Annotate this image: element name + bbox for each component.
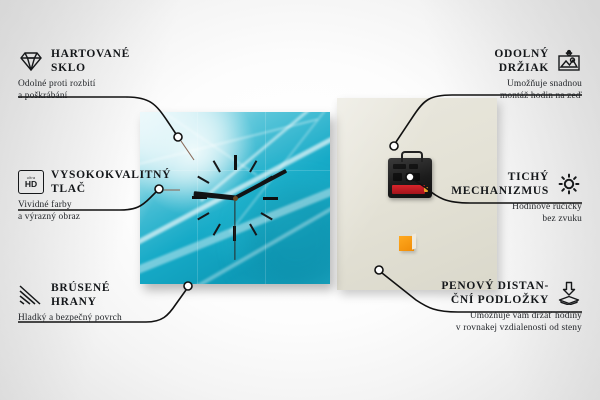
feature-description: Hodinové ručičky bez zvuku xyxy=(392,198,582,225)
feature-description: Umožňuje vám držať hodiny v rovnakej vzd… xyxy=(352,307,582,334)
feature-brusene-hrany: BRÚSENÉ HRANY Hladký a bezpečný povrch xyxy=(18,281,203,324)
ultra-hd-icon: ultra HD xyxy=(18,170,44,194)
connector-left-1 xyxy=(18,97,176,134)
gear-icon xyxy=(556,172,582,196)
feature-title: TICHÝ MECHANIZMUS xyxy=(451,170,549,198)
feature-hartovane-sklo: HARTOVANÉ SKLO Odolné proti rozbití a po… xyxy=(18,47,198,102)
pointer-left-1 xyxy=(181,141,194,160)
connector-dot-right-3 xyxy=(375,266,383,274)
feature-title: PENOVÝ DISTAN- ČNÍ PODLOŽKY xyxy=(441,279,549,307)
feature-description: Vividné farby a výrazný obraz xyxy=(18,196,203,223)
connector-dot-left-1 xyxy=(174,133,182,141)
feature-vysokokvalitny-tlac: ultra HD VYSOKOKVALITNÝ TLAČ Vividné far… xyxy=(18,168,203,223)
feature-title: BRÚSENÉ HRANY xyxy=(51,281,110,309)
feature-description: Odolné proti rozbití a poškrábání xyxy=(18,75,198,102)
foam-spacer-icon xyxy=(556,281,582,305)
picture-hanger-icon xyxy=(556,49,582,73)
feature-penove-podlozky: PENOVÝ DISTAN- ČNÍ PODLOŽKY Umožňuje vám… xyxy=(352,279,582,334)
diamond-icon xyxy=(18,49,44,73)
feature-title: HARTOVANÉ SKLO xyxy=(51,47,130,75)
feature-description: Umožňuje snadnou montáž hodin na zeď xyxy=(392,75,582,102)
feature-title: ODOLNÝ DRŽIAK xyxy=(494,47,549,75)
feature-odolny-drziak: ODOLNÝ DRŽIAK Umožňuje snadnou montáž ho… xyxy=(392,47,582,102)
beveled-edges-icon xyxy=(18,283,44,307)
infographic-canvas: HARTOVANÉ SKLO Odolné proti rozbití a po… xyxy=(0,0,600,400)
feature-title: VYSOKOKVALITNÝ TLAČ xyxy=(51,168,171,196)
connector-dot-right-1 xyxy=(390,142,398,150)
feature-description: Hladký a bezpečný povrch xyxy=(18,309,203,324)
feature-tichy-mechanizmus: TICHÝ MECHANIZMUS Hodinové ručičky bez z… xyxy=(392,170,582,225)
